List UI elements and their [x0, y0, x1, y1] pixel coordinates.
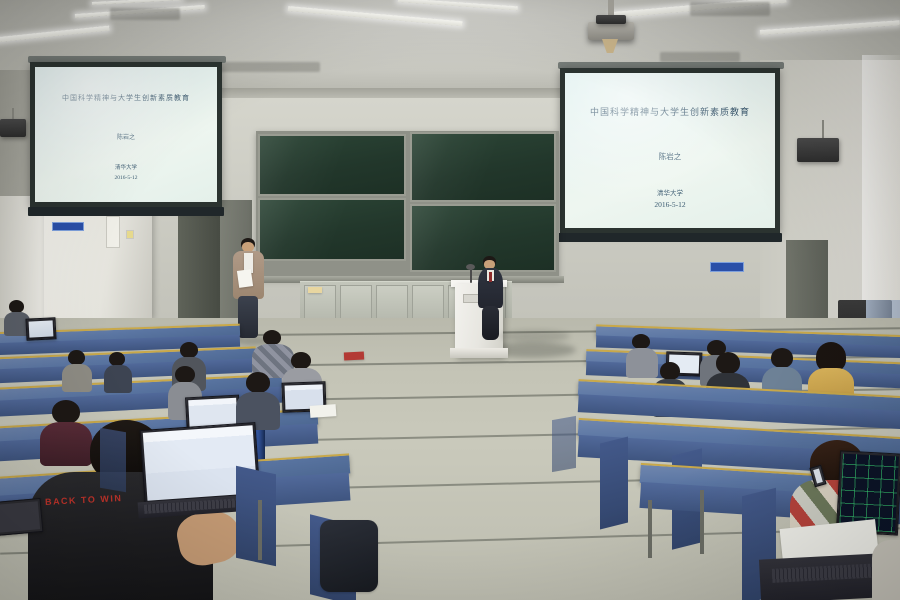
speaker-stem — [822, 120, 824, 138]
left-slide-date: 2016-5-12 — [115, 175, 138, 181]
blackboard-gloss — [260, 200, 404, 259]
desk-side-panel — [236, 466, 276, 567]
desk-leg — [258, 500, 262, 560]
right-slide-date: 2016-5-12 — [654, 200, 685, 209]
desk-leg — [648, 500, 652, 558]
left-slide-title: 中国科学精神与大学生创新素质教育 — [62, 93, 190, 103]
student-head — [716, 352, 740, 374]
cabinet-door[interactable] — [340, 285, 372, 321]
blackboard-panel-lower-left — [258, 198, 406, 261]
student — [62, 350, 92, 390]
podium-microphone — [470, 268, 472, 283]
lecture-hall-photo: 中国科学精神与大学生创新素质教育 陈岩之 清华大学 2016-5-12 中国科学… — [0, 0, 900, 600]
blackboard-gloss — [260, 136, 404, 194]
wall-speaker-left — [0, 119, 26, 137]
student-head — [68, 350, 85, 365]
attendee-papers — [237, 269, 253, 288]
phone-display — [813, 468, 823, 483]
left-screen-weight-bar — [28, 207, 224, 216]
right-projection-screen[interactable]: 中国科学精神与大学生创新素质教育 陈岩之 清华大学 2016-5-12 — [560, 68, 780, 233]
ceiling-vent — [110, 8, 180, 20]
cabinet-door[interactable] — [412, 285, 444, 321]
sliding-blackboard — [256, 131, 559, 279]
cabinet-switch-plate — [126, 230, 134, 239]
left-slide-institution: 清华大学 — [115, 163, 137, 171]
student-head — [109, 352, 125, 366]
laptop-display — [29, 320, 54, 337]
wall-speaker-right — [797, 138, 839, 162]
backpack — [320, 520, 378, 592]
student-head — [632, 334, 650, 349]
blackboard-panel-upper-left — [258, 134, 406, 196]
fire-alarm-sign — [710, 262, 744, 272]
laptop[interactable] — [25, 317, 56, 341]
podium-base — [450, 348, 508, 358]
chair-back — [100, 428, 126, 493]
student-torso — [872, 540, 900, 600]
chair-back — [552, 416, 576, 472]
blackboard-panel-upper-right — [410, 132, 556, 202]
right-slide-institution: 清华大学 — [657, 187, 683, 197]
student-head — [263, 330, 281, 345]
projector-bracket — [596, 15, 626, 24]
right-screen-weight-bar — [558, 233, 782, 242]
cabinet-label — [308, 287, 322, 293]
presenter-tie — [489, 272, 492, 282]
student-head — [246, 372, 270, 393]
student — [236, 372, 280, 428]
left-projection-screen[interactable]: 中国科学精神与大学生创新素质教育 陈岩之 清华大学 2016-5-12 — [30, 62, 222, 207]
cabinet-door[interactable] — [376, 285, 408, 321]
presenter — [477, 256, 507, 340]
left-screen-surface: 中国科学精神与大学生创新素质教育 陈岩之 清华大学 2016-5-12 — [35, 67, 217, 202]
worksheet — [310, 404, 337, 418]
right-screen-surface: 中国科学精神与大学生创新素质教育 陈岩之 清华大学 2016-5-12 — [565, 73, 775, 228]
student — [872, 540, 900, 600]
student — [104, 352, 132, 392]
student-head — [771, 348, 793, 368]
microphone-head — [466, 264, 475, 270]
ceiling-vent — [660, 52, 740, 62]
right-slide-speaker: 陈岩之 — [659, 151, 682, 162]
desk-leg — [700, 490, 704, 554]
cabinet-sign — [52, 222, 84, 231]
student-head — [291, 352, 311, 369]
presenter-legs — [482, 306, 499, 340]
student-head — [175, 366, 195, 383]
right-slide-title: 中国科学精神与大学生创新素质教育 — [590, 105, 750, 118]
ceiling-vent — [690, 2, 770, 16]
left-slide-speaker: 陈岩之 — [117, 132, 135, 141]
student-torso — [104, 365, 132, 393]
student-head — [180, 342, 198, 358]
student-head — [660, 362, 680, 380]
desk-side-panel — [600, 437, 628, 530]
laptop[interactable] — [0, 498, 43, 536]
presenter-floor-shadow — [500, 330, 570, 342]
blackboard-gloss — [412, 134, 554, 200]
notebook — [344, 351, 364, 360]
laptop-display — [0, 501, 40, 533]
cabinet-notice — [106, 216, 120, 248]
student-torso — [62, 364, 92, 392]
ceiling-projector — [588, 22, 634, 40]
